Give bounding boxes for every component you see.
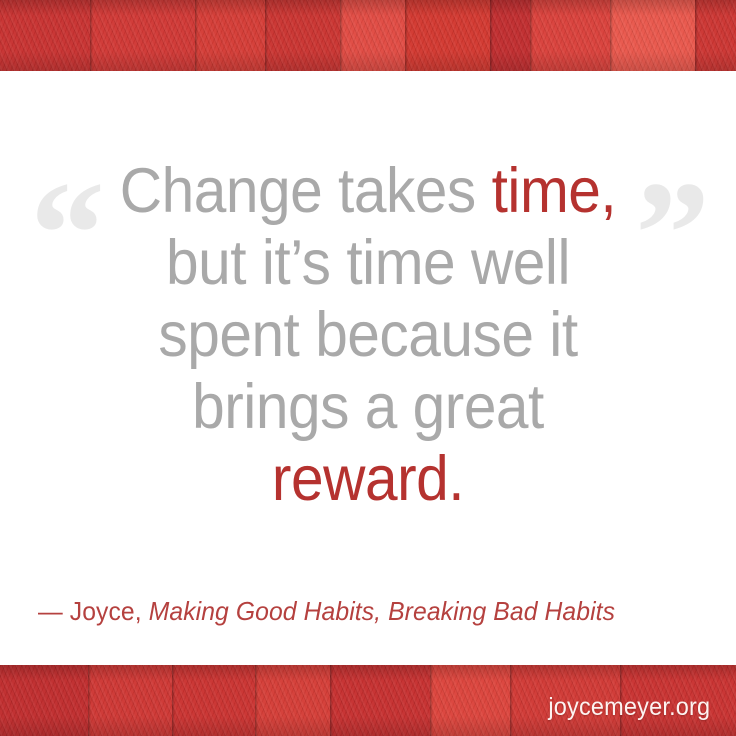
quote-line: brings a great — [26, 371, 710, 443]
attribution-dash: — — [38, 596, 63, 626]
quote-area: “ ” Change takes time, but it’s time wel… — [0, 71, 736, 665]
wood-plank — [340, 0, 405, 71]
attribution-book-title: Making Good Habits, Breaking Bad Habits — [149, 596, 615, 626]
wood-plank — [88, 665, 172, 736]
top-wood-band — [0, 0, 736, 71]
wood-plank — [490, 0, 530, 71]
wood-plank — [430, 665, 510, 736]
wood-plank — [405, 0, 490, 71]
quote-line-plain: but it’s time well — [166, 228, 570, 298]
quote-line: spent because it — [26, 299, 710, 371]
wood-plank — [90, 0, 195, 71]
wood-plank — [330, 665, 430, 736]
wood-plank — [195, 0, 265, 71]
wood-plank — [172, 665, 255, 736]
wood-plank — [610, 0, 695, 71]
quote-line: but it’s time well — [26, 227, 710, 299]
quote-line: Change takes time, — [26, 155, 710, 227]
quote-line-emphasis: reward. — [272, 444, 464, 514]
site-url-label[interactable]: joycemeyer.org — [548, 693, 710, 722]
attribution-author: Joyce, — [70, 596, 142, 626]
quote-line-emphasis: time, — [492, 156, 617, 226]
wood-plank — [0, 0, 90, 71]
quote-graphic-canvas: “ ” Change takes time, but it’s time wel… — [0, 0, 736, 736]
quote-line-plain: Change takes — [120, 156, 492, 226]
wood-plank — [255, 665, 330, 736]
bottom-wood-band: joycemeyer.org — [0, 665, 736, 736]
quote-text-block: Change takes time, but it’s time well sp… — [0, 155, 736, 515]
attribution: — Joyce, Making Good Habits, Breaking Ba… — [38, 595, 615, 627]
quote-line-plain: spent because it — [158, 300, 577, 370]
wood-plank — [530, 0, 610, 71]
wood-plank — [0, 665, 88, 736]
quote-line-plain: brings a great — [192, 372, 544, 442]
quote-line: reward. — [26, 443, 710, 515]
wood-plank — [265, 0, 340, 71]
wood-plank — [695, 0, 736, 71]
